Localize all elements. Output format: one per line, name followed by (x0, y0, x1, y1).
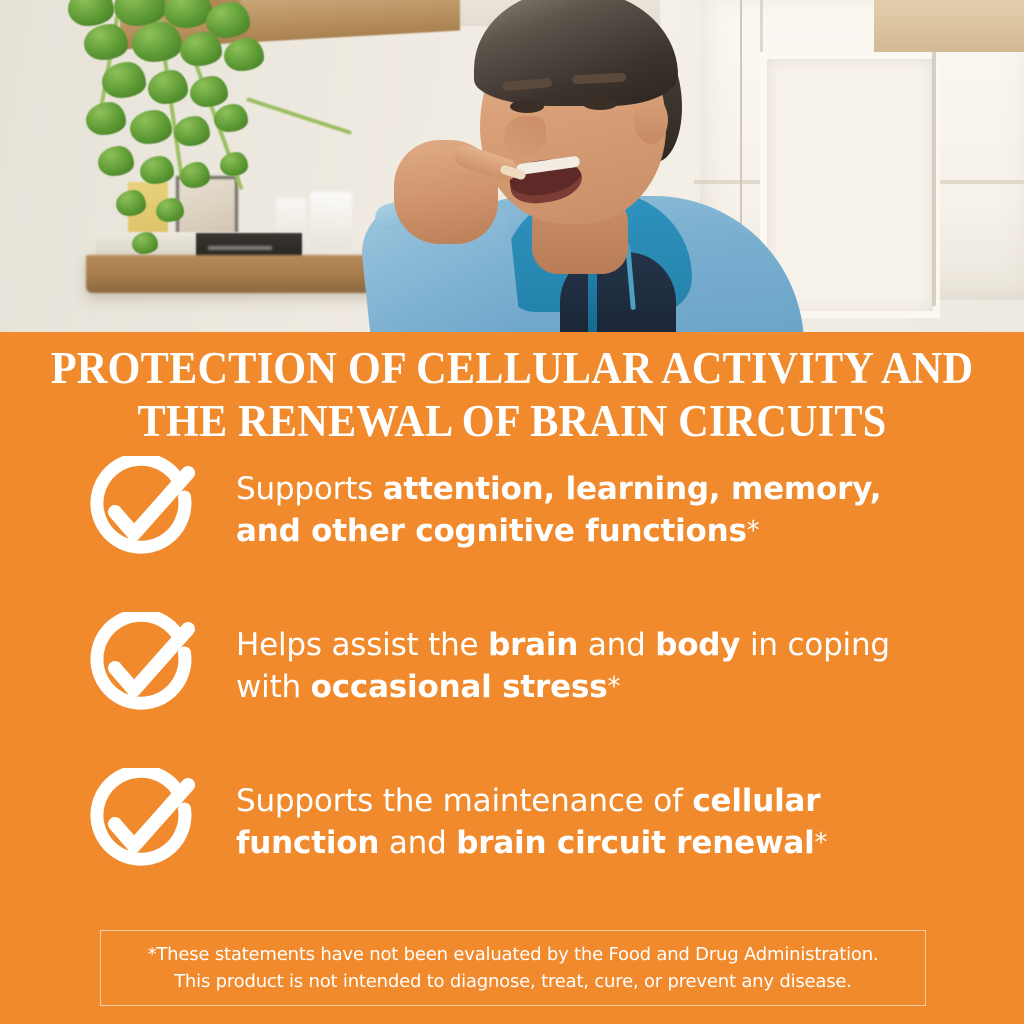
person-taking-supplement (392, 0, 822, 334)
fda-disclaimer-box: *These statements have not been evaluate… (100, 930, 926, 1006)
disclaimer-text: *These statements have not been evaluate… (148, 941, 879, 995)
nose (504, 116, 546, 156)
cabinet-gap (932, 50, 936, 306)
benefit-text: Supports the maintenance of cellular fun… (236, 766, 956, 864)
asterisk-marker: * (815, 828, 828, 858)
benefit-segment: Helps assist the (236, 627, 488, 663)
list-item: Helps assist the brain and body in copin… (0, 610, 1024, 730)
headline-line-1: PROTECTION OF CELLULAR ACTIVITY AND (31, 342, 994, 395)
disclaimer-line-2: This product is not intended to diagnose… (148, 968, 879, 995)
benefit-segment-bold: occasional stress (311, 669, 608, 705)
page-title: PROTECTION OF CELLULAR ACTIVITY AND THE … (31, 342, 994, 448)
benefit-segment-bold: body (655, 627, 740, 663)
circle-check-icon (84, 456, 196, 564)
asterisk-marker: * (747, 516, 760, 546)
benefits-panel: PROTECTION OF CELLULAR ACTIVITY AND THE … (0, 332, 1024, 1024)
benefit-segment-bold: brain (488, 627, 578, 663)
light-wood-panel (874, 0, 1024, 52)
hero-photo (0, 0, 1024, 334)
list-item: Supports attention, learning, memory, an… (0, 454, 1024, 574)
benefit-segment: and (379, 825, 456, 861)
supplement-benefits-infographic: PROTECTION OF CELLULAR ACTIVITY AND THE … (0, 0, 1024, 1024)
eye-right (582, 96, 618, 110)
benefit-segment: Supports the maintenance of (236, 783, 692, 819)
benefit-segment: Supports (236, 471, 383, 507)
benefit-text: Helps assist the brain and body in copin… (236, 610, 956, 708)
benefit-list: Supports attention, learning, memory, an… (0, 454, 1024, 922)
benefit-segment: and (578, 627, 655, 663)
benefit-text: Supports attention, learning, memory, an… (236, 454, 956, 552)
benefit-segment-bold: brain circuit renewal (456, 825, 814, 861)
ear (634, 96, 668, 144)
eye-left (510, 100, 544, 113)
headline-line-2: THE RENEWAL OF BRAIN CIRCUITS (31, 395, 994, 448)
hoodie-zipper (588, 272, 597, 334)
hanging-pothos-plant (28, 0, 318, 284)
list-item: Supports the maintenance of cellular fun… (0, 766, 1024, 886)
circle-check-icon (84, 768, 196, 876)
circle-check-icon (84, 612, 196, 720)
asterisk-marker: * (607, 672, 620, 702)
disclaimer-line-1: *These statements have not been evaluate… (148, 941, 879, 968)
